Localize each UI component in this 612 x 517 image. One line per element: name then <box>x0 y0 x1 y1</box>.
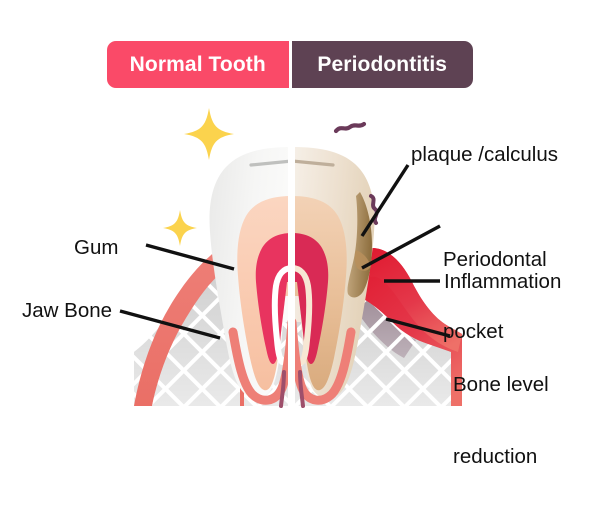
sparkle-small-icon <box>163 210 197 246</box>
label-jaw-bone: Jaw Bone <box>22 299 112 323</box>
tab-normal-tooth[interactable]: Normal Tooth <box>107 41 289 88</box>
illustration-canvas: Normal Tooth Periodontitis Gum Jaw Bone … <box>0 0 612 445</box>
label-periodontal-pocket-line1: Periodontal <box>443 248 547 272</box>
center-divider <box>288 120 295 406</box>
label-gum: Gum <box>74 236 118 260</box>
label-bone-level-reduction: Bone level reduction <box>453 325 549 517</box>
bacteria-icon-upper <box>336 124 364 131</box>
label-inflammation: Inflammation <box>444 270 561 294</box>
label-plaque-calculus: plaque /calculus <box>411 143 558 167</box>
label-bone-level-reduction-line1: Bone level <box>453 373 549 397</box>
sparkle-large-icon <box>184 108 234 160</box>
comparison-tabs: Normal Tooth Periodontitis <box>107 41 473 88</box>
tab-periodontitis[interactable]: Periodontitis <box>292 41 474 88</box>
label-bone-level-reduction-line2: reduction <box>453 445 549 469</box>
